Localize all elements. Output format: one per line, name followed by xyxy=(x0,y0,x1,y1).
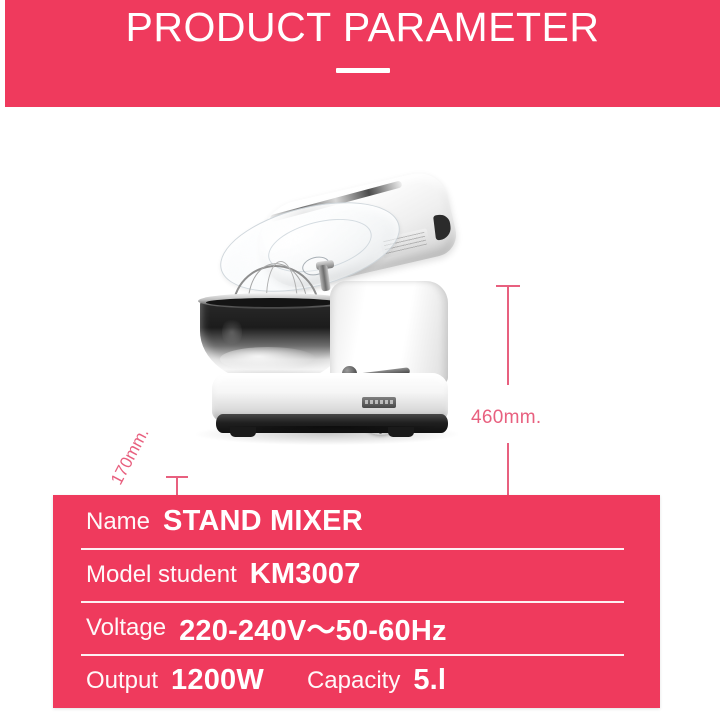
header-banner: PRODUCT PARAMETER xyxy=(5,0,720,107)
dimension-segment xyxy=(507,285,509,385)
spec-value-voltage: 220-240V～50-60Hz xyxy=(179,607,447,649)
page-title: PRODUCT PARAMETER xyxy=(5,4,720,50)
mixer-foot xyxy=(388,427,414,437)
spec-value-capacity: 5.l xyxy=(413,664,446,697)
spec-label-output: Output xyxy=(86,667,158,695)
spec-label-name: Name xyxy=(86,508,150,536)
bowl-dimension-label: 170mm. xyxy=(107,425,153,489)
spec-label-model: Model student xyxy=(86,561,237,589)
bowl-emboss-mark xyxy=(222,317,242,347)
bowl-rim-inner xyxy=(206,298,338,307)
height-dimension-label: 460mm. xyxy=(471,407,541,429)
dimension-end-cap xyxy=(166,476,188,478)
spec-value-name: STAND MIXER xyxy=(163,505,363,538)
product-photo-area: 460mm. 340mm. 170mm. xyxy=(0,107,720,487)
spec-row-model: Model student KM3007 xyxy=(53,548,660,601)
spec-label-capacity: Capacity xyxy=(307,667,400,695)
mixer-foot xyxy=(230,427,256,437)
brand-logo-badge xyxy=(362,397,396,408)
spec-row-voltage: Voltage 220-240V～50-60Hz xyxy=(53,601,660,654)
spec-row-name: Name STAND MIXER xyxy=(53,495,660,548)
spec-label-voltage: Voltage xyxy=(86,614,166,642)
bowl-rim xyxy=(198,293,350,309)
spec-value-output: 1200W xyxy=(171,664,264,697)
specification-table: Name STAND MIXER Model student KM3007 Vo… xyxy=(53,495,660,708)
title-underline-dash xyxy=(336,68,390,73)
spec-row-output-capacity: Output 1200W Capacity 5.l xyxy=(53,654,660,707)
product-parameter-page: PRODUCT PARAMETER xyxy=(0,0,720,720)
bowl-highlight xyxy=(220,347,316,371)
stand-mixer-illustration xyxy=(196,165,458,440)
spec-value-model: KM3007 xyxy=(250,558,361,591)
